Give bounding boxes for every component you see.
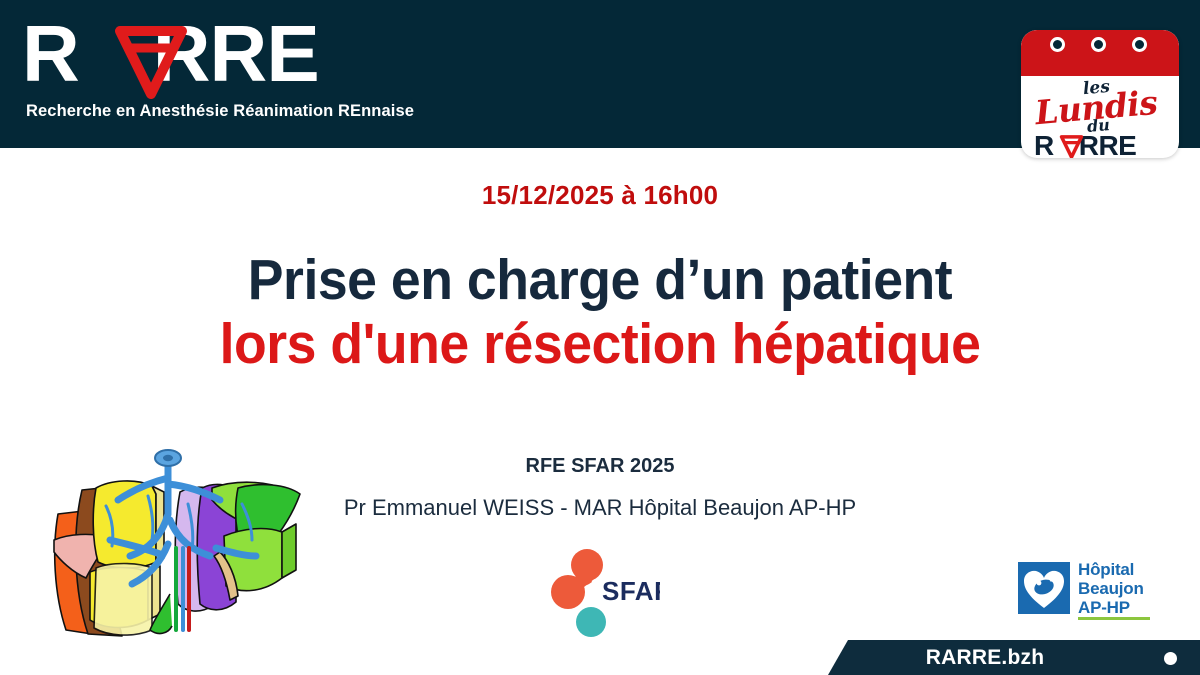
event-date: 15/12/2025 à 16h00 <box>0 180 1200 211</box>
calendar-ring-icon-2 <box>1091 37 1106 52</box>
sfar-logo: SFAR <box>548 548 660 640</box>
aphp-heart-mark-icon <box>1018 562 1070 614</box>
aphp-text-block: Hôpital Beaujon AP-HP <box>1078 560 1144 617</box>
page-title: Prise en charge d’un patient lors d'une … <box>0 248 1200 376</box>
circle-dot-icon <box>1164 652 1177 665</box>
aphp-line-1: Hôpital <box>1078 560 1144 579</box>
rarre-wordmark-part-1: R <box>22 9 79 98</box>
aphp-line-2: Beaujon <box>1078 579 1144 598</box>
title-line-2: lors d'une résection hépatique <box>36 312 1164 376</box>
diamond-gem-icon <box>110 22 192 100</box>
calendar-top-strip <box>1021 30 1179 76</box>
lundis-du-rarre-badge[interactable]: les Lundis du RRRE <box>1021 30 1179 158</box>
footer-bar: RARRE.bzh <box>820 640 1200 675</box>
liver-segments-anatomy-illustration <box>52 444 324 640</box>
hopital-beaujon-aphp-logo: Hôpital Beaujon AP-HP <box>1018 560 1182 632</box>
rarre-tagline: Recherche en Anesthésie Réanimation REnn… <box>26 102 414 121</box>
rarre-logo: RRRE Recherche en Anesthésie Réanimation… <box>20 14 380 132</box>
badge-text-rarre: RRRE <box>1034 130 1136 158</box>
badge-rarre-part-1: R <box>1034 130 1054 158</box>
calendar-body: les Lundis du RRRE <box>1021 76 1179 158</box>
header-bar: RRRE Recherche en Anesthésie Réanimation… <box>0 0 1200 148</box>
aphp-accent-underline <box>1078 617 1150 620</box>
footer-website-label[interactable]: RARRE.bzh <box>820 646 1150 670</box>
calendar-ring-icon-3 <box>1132 37 1147 52</box>
badge-diamond-gem-icon <box>1058 134 1085 158</box>
calendar-ring-icon-1 <box>1050 37 1065 52</box>
aphp-heart-bird-icon <box>1018 562 1070 614</box>
rarre-wordmark: RRRE <box>20 14 380 92</box>
title-line-1: Prise en charge d’un patient <box>36 248 1164 312</box>
sfar-logo-label: SFAR <box>602 576 660 606</box>
aphp-line-3: AP-HP <box>1078 598 1144 617</box>
badge-rarre-part-2: RRE <box>1079 130 1137 158</box>
